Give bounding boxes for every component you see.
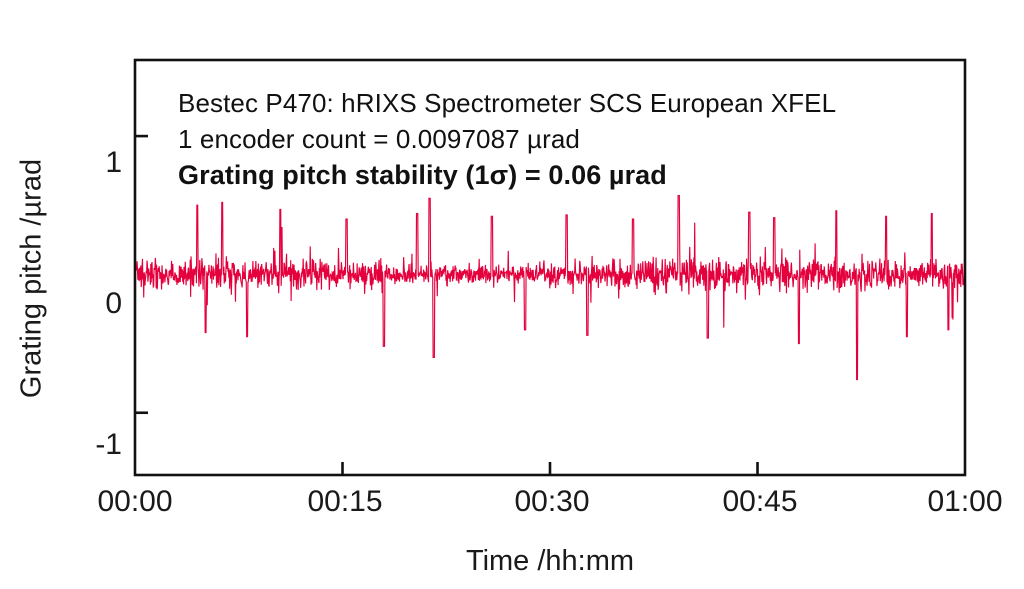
x-tick-label-0100: 01:00 <box>885 487 1024 517</box>
x-tick-label-0000: 00:00 <box>55 487 215 517</box>
y-tick-label-0: 0 <box>52 289 122 319</box>
x-axis-title: Time /hh:mm <box>135 545 965 578</box>
annotation-instrument: Bestec P470: hRIXS Spectrometer SCS Euro… <box>178 88 836 119</box>
y-tick-label-minus-1: -1 <box>52 430 122 460</box>
y-axis-title: Grating pitch /µrad <box>16 79 49 479</box>
y-tick-label-1: 1 <box>52 148 122 178</box>
x-tick-label-0045: 00:45 <box>680 487 840 517</box>
annotation-encoder-count: 1 encoder count = 0.0097087 µrad <box>178 124 580 155</box>
x-tick-label-0015: 00:15 <box>265 487 425 517</box>
axes-frame <box>135 60 965 475</box>
noise-trace <box>135 196 965 380</box>
annotation-stability: Grating pitch stability (1σ) = 0.06 µrad <box>178 160 667 191</box>
chart-figure: Grating pitch /µrad 1 0 -1 00:00 00:15 0… <box>0 0 1024 589</box>
x-tick-label-0030: 00:30 <box>472 487 632 517</box>
